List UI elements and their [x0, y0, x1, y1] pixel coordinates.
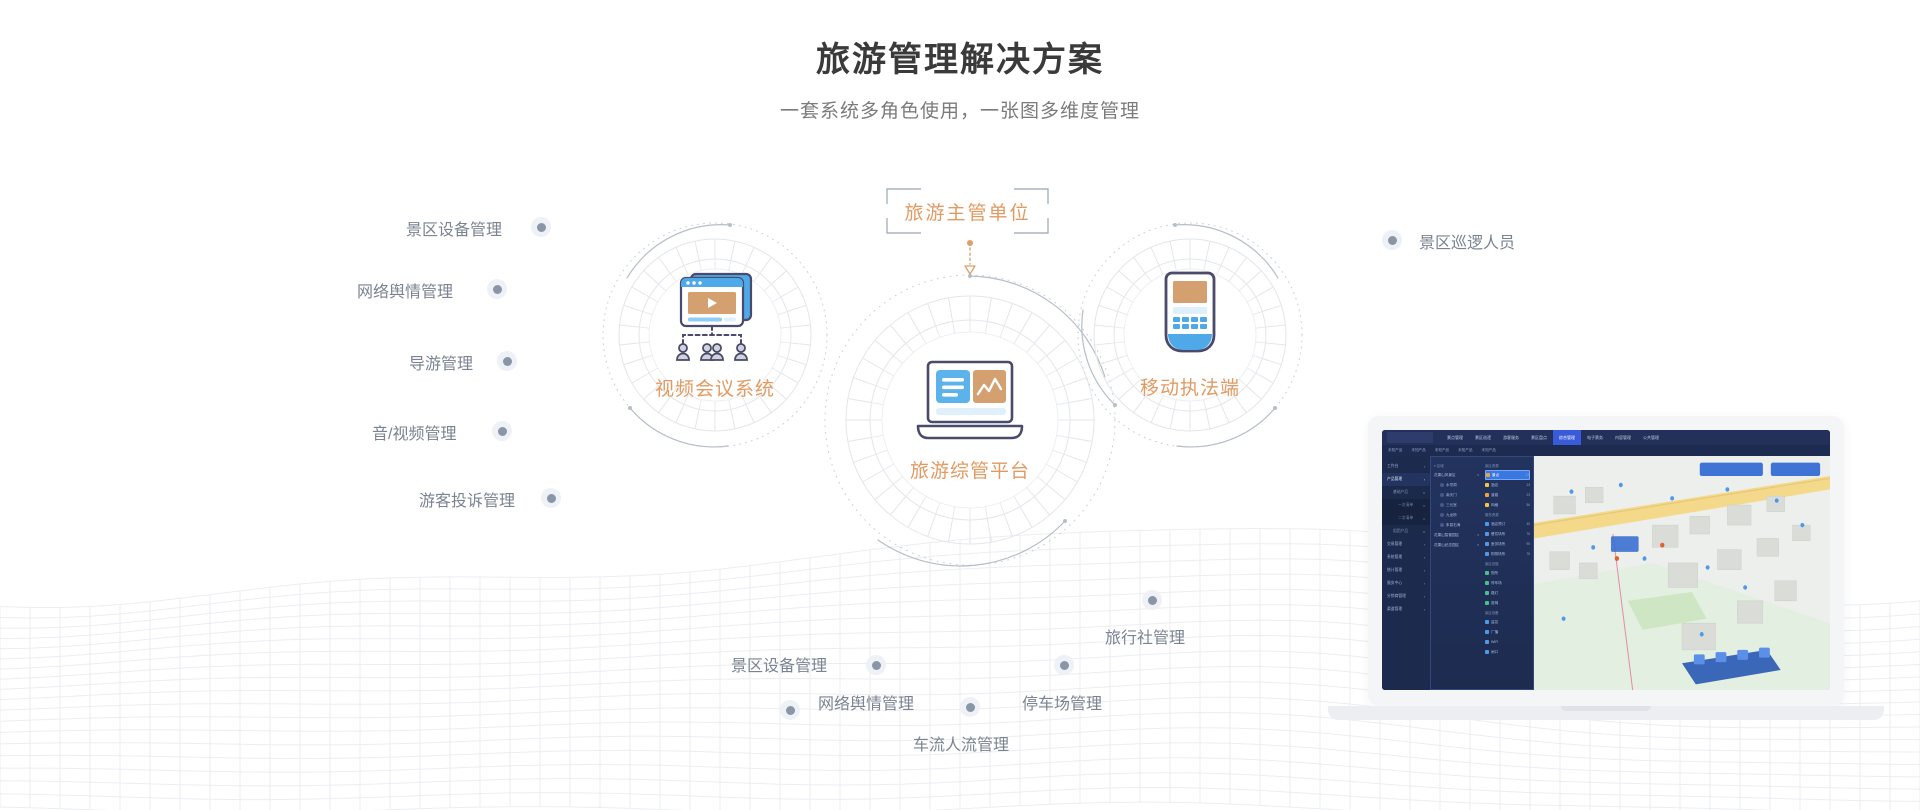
- mockup-layers-column: 景区资源景点23酒店23道路23网格56服务资源酒店预订45餐饮场所76医务场所…: [1482, 457, 1533, 689]
- layer-color-swatch-icon: [1485, 620, 1489, 624]
- chevron-icon: v: [1423, 491, 1425, 495]
- mockup-sidebar-item[interactable]: 二次清单v: [1382, 512, 1430, 525]
- chevron-icon: v: [1477, 473, 1479, 477]
- mockup-layer-item[interactable]: 餐饮场所76: [1485, 529, 1530, 539]
- mockup-layer-item-label: 景点: [1492, 473, 1499, 478]
- laptop-lid: 景点管理 景区巡逻 游客服务 景区盘点 综合管理 电子票务 内容管理 公共管理 …: [1368, 416, 1844, 706]
- chevron-icon: ›: [1424, 543, 1425, 547]
- bottom-dot-4[interactable]: [1142, 590, 1162, 610]
- mockup-tree-child-label: 水帘洞: [1446, 483, 1457, 488]
- layer-color-swatch-icon: [1485, 483, 1489, 487]
- mockup-map[interactable]: [1534, 456, 1830, 690]
- mockup-sidebar-item[interactable]: 渠道管理›: [1382, 603, 1430, 616]
- bottom-label-2: 车流人流管理: [913, 731, 1009, 755]
- right-dot-0[interactable]: [1382, 230, 1402, 250]
- layer-color-swatch-icon: [1485, 640, 1489, 644]
- mockup-layer-panel: ≡ 区域花果山风景区v水帘洞南天门三元宫九龙桥朱葛石海花果山智管园区v花果山纪念…: [1430, 456, 1534, 690]
- left-dot-4[interactable]: [541, 488, 561, 508]
- mockup-tabbar: 未知产品 未知产品 未知产品 未知产品 未知产品: [1382, 445, 1830, 456]
- left-dot-3[interactable]: [492, 421, 512, 441]
- mockup-sidebar-item-label: 统计管理: [1387, 568, 1402, 573]
- mockup-layer-item-count: 56: [1526, 503, 1530, 507]
- mockup-tree-node[interactable]: 花果山风景区v: [1434, 470, 1479, 480]
- mockup-layer-item-label: WiFi: [1491, 640, 1498, 644]
- mockup-tab-0[interactable]: 未知产品: [1388, 448, 1402, 453]
- mockup-nav-7[interactable]: 公共管理: [1637, 430, 1665, 445]
- mockup-tree-node-label: 花果山智管园区: [1434, 533, 1459, 538]
- mockup-tree-child[interactable]: 朱葛石海: [1434, 520, 1479, 530]
- authority-badge[interactable]: 旅游主管单位: [886, 188, 1049, 234]
- bullet-icon: [1440, 513, 1444, 517]
- mockup-layer-item-label: 监控: [1491, 620, 1498, 625]
- laptop-base: [1328, 706, 1884, 720]
- mockup-layer-group-title: 景区资源: [1485, 461, 1530, 470]
- bottom-label-3: 停车场管理: [1022, 690, 1102, 714]
- right-label-0: 景区巡逻人员: [1419, 229, 1515, 253]
- mockup-sidebar-item[interactable]: 一次清单v: [1382, 499, 1430, 512]
- bullet-icon: [1440, 493, 1444, 497]
- mockup-layer-item-label: 酒店: [1491, 483, 1498, 488]
- chevron-icon: v: [1423, 504, 1425, 508]
- mockup-tree-node-label: 花果山风景区: [1434, 473, 1456, 478]
- mockup-tree-child-label: 南天门: [1446, 493, 1457, 498]
- mockup-tree-child-label: 九龙桥: [1446, 513, 1457, 518]
- mockup-tab-1[interactable]: 未知产品: [1411, 448, 1425, 453]
- chevron-icon: ›: [1424, 582, 1425, 586]
- bottom-dot-2[interactable]: [960, 697, 980, 717]
- mockup-sidebar-item[interactable]: 基础产品v: [1382, 486, 1430, 499]
- mockup-layer-item-label: 闸口: [1491, 650, 1498, 655]
- bottom-label-4: 旅行社管理: [1105, 624, 1185, 648]
- mockup-layer-item-label: 广播: [1491, 630, 1498, 635]
- layer-color-swatch-icon: [1485, 591, 1489, 595]
- mockup-sidebar-item-label: 服务中心: [1387, 581, 1402, 586]
- mockup-layer-item[interactable]: 景点23: [1485, 470, 1530, 480]
- mockup-layer-item[interactable]: 医务场所95: [1485, 539, 1530, 549]
- mockup-layer-item[interactable]: 闸口: [1485, 647, 1530, 657]
- chevron-icon: ›: [1424, 608, 1425, 612]
- mockup-layer-item-label: 酒店预订: [1491, 522, 1505, 527]
- mockup-layer-item[interactable]: 酒店23: [1485, 480, 1530, 490]
- page-title: 旅游管理解决方案: [0, 38, 1920, 82]
- mockup-layer-item-count: 23: [1526, 483, 1530, 487]
- bottom-dot-3[interactable]: [1054, 655, 1074, 675]
- bottom-dot-1[interactable]: [780, 700, 800, 720]
- layer-color-swatch-icon: [1485, 630, 1489, 634]
- mockup-layer-item-label: 道路: [1491, 493, 1498, 498]
- mockup-tree-child-label: 三元宫: [1446, 503, 1457, 508]
- mockup-layer-item-count: 76: [1526, 552, 1530, 556]
- mockup-sidebar-item-label: 一次清单: [1398, 503, 1413, 508]
- mockup-tree-node-label: 花果山纪念园区: [1434, 543, 1459, 548]
- mockup-map-canvas: [1534, 456, 1830, 690]
- left-dot-0[interactable]: [531, 217, 551, 237]
- bottom-label-0: 景区设备管理: [731, 652, 827, 676]
- chevron-icon: ›: [1424, 556, 1425, 560]
- layer-color-swatch-icon: [1485, 650, 1489, 654]
- bottom-dot-0[interactable]: [866, 655, 886, 675]
- mockup-nav-5[interactable]: 电子票务: [1581, 430, 1609, 445]
- left-label-2: 导游管理: [409, 350, 473, 374]
- mockup-layer-group-title: 景区设备: [1485, 608, 1530, 617]
- left-dot-1[interactable]: [487, 279, 507, 299]
- mockup-nav-3[interactable]: 景区盘点: [1525, 430, 1553, 445]
- left-dot-2[interactable]: [497, 351, 517, 371]
- mockup-layer-item-label: 路灯: [1491, 591, 1498, 596]
- laptop-mockup: 景点管理 景区巡逻 游客服务 景区盘点 综合管理 电子票务 内容管理 公共管理 …: [1368, 416, 1884, 720]
- chevron-icon: ›: [1424, 569, 1425, 573]
- mockup-layer-item[interactable]: 座椅: [1485, 598, 1530, 608]
- authority-badge-label: 旅游主管单位: [904, 198, 1030, 225]
- left-label-1: 网络舆情管理: [357, 278, 453, 302]
- mockup-tree-child[interactable]: 三元宫: [1434, 500, 1479, 510]
- mockup-layer-item[interactable]: WiFi: [1485, 637, 1530, 647]
- mockup-layer-item[interactable]: 网格56: [1485, 500, 1530, 510]
- chevron-icon: v: [1423, 530, 1425, 534]
- mockup-layer-item-count: 45: [1526, 522, 1530, 526]
- mockup-tab-2[interactable]: 未知产品: [1435, 448, 1449, 453]
- mockup-layer-item-label: 医务场所: [1491, 542, 1505, 547]
- layer-color-swatch-icon: [1485, 542, 1489, 546]
- mockup-tab-3[interactable]: 未知产品: [1458, 448, 1472, 453]
- bullet-icon: [1440, 523, 1444, 527]
- mockup-tree-node[interactable]: 花果山智管园区v: [1434, 530, 1479, 540]
- mockup-layer-item[interactable]: 监控: [1485, 617, 1530, 627]
- mockup-sidebar-item[interactable]: 统计管理›: [1382, 564, 1430, 577]
- layer-color-swatch-icon: [1485, 571, 1489, 575]
- mockup-sidebar: 工作台›产品管理›基础产品v一次清单v二次清单v组团产品v交易管理›系统管理›统…: [1382, 456, 1430, 690]
- mockup-nav-1[interactable]: 景区巡逻: [1469, 430, 1497, 445]
- layer-color-swatch-icon: [1485, 532, 1489, 536]
- mockup-nav-0[interactable]: 景点管理: [1441, 430, 1469, 445]
- mockup-tree-node[interactable]: 花果山纪念园区v: [1434, 540, 1479, 550]
- mockup-layer-item-label: 网格: [1491, 503, 1498, 508]
- bottom-label-1: 网络舆情管理: [818, 690, 914, 714]
- chevron-icon: ›: [1424, 465, 1425, 469]
- mockup-sidebar-item[interactable]: 工作台›: [1382, 460, 1430, 473]
- badge-down-arrow: [962, 240, 978, 280]
- mockup-nav-2[interactable]: 游客服务: [1497, 430, 1525, 445]
- mockup-sidebar-item-label: 系统管理: [1387, 555, 1402, 560]
- left-label-0: 景区设备管理: [406, 216, 502, 240]
- mockup-layer-item-count: 23: [1526, 493, 1530, 497]
- mockup-sidebar-item[interactable]: 交易管理›: [1382, 538, 1430, 551]
- chevron-icon: v: [1477, 533, 1479, 537]
- mockup-layer-item-label: 购物场所: [1491, 552, 1505, 557]
- mockup-tree-child[interactable]: 九龙桥: [1434, 510, 1479, 520]
- mockup-tree-child[interactable]: 南天门: [1434, 490, 1479, 500]
- mockup-layer-item-label: 餐饮场所: [1491, 532, 1505, 537]
- layer-color-swatch-icon: [1485, 522, 1489, 526]
- mockup-layer-item[interactable]: 购物场所76: [1485, 549, 1530, 559]
- mockup-layer-group-title: 服务资源: [1485, 510, 1530, 519]
- mockup-layer-item[interactable]: 酒店预订45: [1485, 519, 1530, 529]
- layer-color-swatch-icon: [1485, 581, 1489, 585]
- mockup-layer-item-count: 23: [1525, 473, 1529, 477]
- chevron-icon: v: [1423, 517, 1425, 521]
- mockup-sidebar-item[interactable]: 产品管理›: [1382, 473, 1430, 486]
- mockup-sidebar-item-label: 二次清单: [1398, 516, 1413, 521]
- mockup-tree-title: ≡ 区域: [1434, 461, 1479, 470]
- mockup-tree-child[interactable]: 水帘洞: [1434, 480, 1479, 490]
- mockup-layer-item-count: 95: [1526, 542, 1530, 546]
- mockup-sidebar-item-label: 组团产品: [1393, 529, 1408, 534]
- mockup-tab-4[interactable]: 未知产品: [1482, 448, 1496, 453]
- mockup-sidebar-item[interactable]: 组团产品v: [1382, 525, 1430, 538]
- mockup-sidebar-item-label: 交易管理: [1387, 542, 1402, 547]
- mockup-body: 工作台›产品管理›基础产品v一次清单v二次清单v组团产品v交易管理›系统管理›统…: [1382, 456, 1830, 690]
- mockup-sidebar-item-label: 工作台: [1387, 464, 1398, 469]
- mockup-layer-item[interactable]: 厕所: [1485, 568, 1530, 578]
- left-label-4: 游客投诉管理: [419, 487, 515, 511]
- layer-color-swatch-icon: [1485, 503, 1489, 507]
- bullet-icon: [1440, 503, 1444, 507]
- chevron-icon: ›: [1424, 478, 1425, 482]
- mockup-layer-item-label: 厕所: [1491, 571, 1498, 576]
- mockup-nav-6[interactable]: 内容管理: [1609, 430, 1637, 445]
- mockup-layer-group-title: 景区设施: [1485, 559, 1530, 568]
- page-header: 旅游管理解决方案 一套系统多角色使用，一张图多维度管理: [0, 38, 1920, 126]
- mockup-layer-item-label: 座椅: [1491, 601, 1498, 606]
- mockup-sidebar-item[interactable]: 分销商管理›: [1382, 590, 1430, 603]
- layer-color-swatch-icon: [1485, 601, 1489, 605]
- mockup-layer-item-label: 停车场: [1491, 581, 1502, 586]
- mockup-layer-item-count: 76: [1526, 532, 1530, 536]
- mockup-sidebar-item-label: 产品管理: [1387, 477, 1402, 482]
- mockup-layer-item[interactable]: 路灯: [1485, 588, 1530, 598]
- mockup-logo: [1387, 432, 1433, 443]
- mockup-tree-child-label: 朱葛石海: [1446, 523, 1460, 528]
- mockup-tree-column: ≡ 区域花果山风景区v水帘洞南天门三元宫九龙桥朱葛石海花果山智管园区v花果山纪念…: [1431, 457, 1482, 689]
- layer-color-swatch-icon: [1485, 552, 1489, 556]
- layer-color-swatch-icon: [1486, 473, 1490, 477]
- laptop-screen: 景点管理 景区巡逻 游客服务 景区盘点 综合管理 电子票务 内容管理 公共管理 …: [1382, 430, 1830, 690]
- mockup-layer-item[interactable]: 广播: [1485, 627, 1530, 637]
- mockup-nav-4[interactable]: 综合管理: [1553, 430, 1581, 445]
- chevron-icon: ›: [1424, 595, 1425, 599]
- layer-color-swatch-icon: [1485, 493, 1489, 497]
- mockup-sidebar-item-label: 渠道管理: [1387, 607, 1402, 612]
- chevron-icon: v: [1477, 543, 1479, 547]
- page-subtitle: 一套系统多角色使用，一张图多维度管理: [0, 98, 1920, 126]
- mockup-sidebar-item[interactable]: 服务中心›: [1382, 577, 1430, 590]
- mockup-sidebar-item-label: 基础产品: [1393, 490, 1408, 495]
- mockup-sidebar-item[interactable]: 系统管理›: [1382, 551, 1430, 564]
- mockup-sidebar-item-label: 分销商管理: [1387, 594, 1406, 599]
- mockup-topbar: 景点管理 景区巡逻 游客服务 景区盘点 综合管理 电子票务 内容管理 公共管理: [1382, 430, 1830, 445]
- left-label-3: 音/视频管理: [372, 420, 456, 444]
- mockup-layer-item[interactable]: 道路23: [1485, 490, 1530, 500]
- mockup-layer-item[interactable]: 停车场: [1485, 578, 1530, 588]
- page-root: 旅游管理解决方案 一套系统多角色使用，一张图多维度管理: [0, 0, 1920, 810]
- bullet-icon: [1440, 483, 1444, 487]
